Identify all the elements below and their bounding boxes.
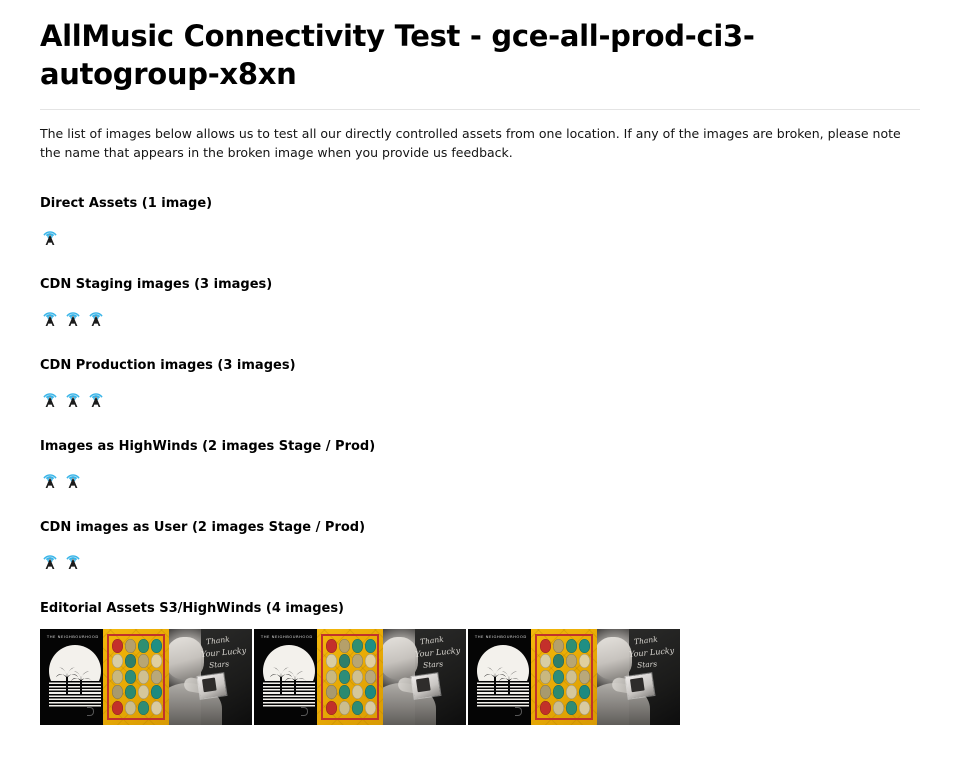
disc (125, 670, 136, 684)
disc (112, 639, 123, 653)
disc (339, 670, 350, 684)
album-mark (515, 707, 522, 716)
broken-image-icon[interactable] (63, 548, 83, 570)
album-art-lucky-stars: Thank Your Lucky Stars (383, 629, 466, 725)
editorial-image[interactable]: THE NEIGHBOURHOOD (468, 629, 680, 725)
disc (566, 670, 577, 684)
held-photo (411, 673, 440, 698)
disc (540, 685, 551, 699)
disc (326, 654, 337, 668)
disc (365, 654, 376, 668)
disc (339, 701, 350, 715)
disc (579, 670, 590, 684)
broken-image-row (40, 224, 920, 248)
disc (365, 701, 376, 715)
disc (579, 701, 590, 715)
broken-image-row (40, 305, 920, 329)
disc (540, 670, 551, 684)
disc (566, 654, 577, 668)
album-label: THE NEIGHBOURHOOD (475, 635, 527, 639)
disc (125, 639, 136, 653)
section-heading: CDN Production images (3 images) (40, 359, 920, 372)
disc (151, 685, 162, 699)
handwriting-line-3: Stars (209, 659, 230, 669)
disc (566, 701, 577, 715)
disc (339, 685, 350, 699)
handwriting-line-3: Stars (637, 659, 658, 669)
disc (125, 701, 136, 715)
palm-trees-icon (268, 663, 310, 695)
album-art-neighbourhood: THE NEIGHBOURHOOD (40, 629, 103, 725)
album-art-neighbourhood: THE NEIGHBOURHOOD (468, 629, 531, 725)
disc (553, 685, 564, 699)
disc (540, 701, 551, 715)
section-images-as-highwinds: Images as HighWinds (2 images Stage / Pr… (40, 440, 920, 491)
disc (326, 670, 337, 684)
broken-image-icon[interactable] (63, 467, 83, 489)
disc (566, 685, 577, 699)
section-heading: CDN Staging images (3 images) (40, 278, 920, 291)
broken-image-icon[interactable] (40, 386, 60, 408)
disc (326, 685, 337, 699)
section-editorial-assets: Editorial Assets S3/HighWinds (4 images) (40, 602, 920, 725)
disc (352, 701, 363, 715)
disc-grid (539, 638, 591, 716)
disc (138, 654, 149, 668)
disc (138, 685, 149, 699)
disc-grid (111, 638, 163, 716)
disc (151, 701, 162, 715)
disc (125, 654, 136, 668)
disc (138, 639, 149, 653)
title-divider (40, 109, 920, 110)
disc (553, 670, 564, 684)
broken-image-icon[interactable] (40, 467, 60, 489)
disc (151, 670, 162, 684)
album-art-discs (531, 629, 597, 725)
album-art-discs (103, 629, 169, 725)
disc (352, 670, 363, 684)
girl-figure (383, 637, 418, 679)
disc (553, 639, 564, 653)
disc (125, 685, 136, 699)
page-title: AllMusic Connectivity Test - gce-all-pro… (40, 18, 920, 93)
disc (365, 639, 376, 653)
broken-image-icon[interactable] (63, 386, 83, 408)
disc (326, 639, 337, 653)
broken-image-row (40, 548, 920, 572)
album-art-discs (317, 629, 383, 725)
disc (112, 685, 123, 699)
broken-image-row (40, 386, 920, 410)
disc (339, 654, 350, 668)
disc (566, 639, 577, 653)
editorial-image[interactable]: THE NEIGHBOURHOOD (40, 629, 252, 725)
section-cdn-staging: CDN Staging images (3 images) (40, 278, 920, 329)
album-label: THE NEIGHBOURHOOD (261, 635, 313, 639)
section-heading: Editorial Assets S3/HighWinds (4 images) (40, 602, 920, 615)
girl-figure (169, 637, 204, 679)
section-direct-assets: Direct Assets (1 image) (40, 197, 920, 248)
section-cdn-production: CDN Production images (3 images) (40, 359, 920, 410)
held-photo (625, 673, 654, 698)
palm-trees-icon (482, 663, 524, 695)
disc (540, 654, 551, 668)
editorial-image[interactable]: THE NEIGHBOURHOOD (254, 629, 466, 725)
disc (540, 639, 551, 653)
disc (151, 654, 162, 668)
broken-image-icon[interactable] (86, 305, 106, 327)
disc (352, 654, 363, 668)
broken-image-icon[interactable] (40, 224, 60, 246)
disc (112, 670, 123, 684)
broken-image-icon[interactable] (63, 305, 83, 327)
disc (365, 685, 376, 699)
disc (352, 685, 363, 699)
section-heading: CDN images as User (2 images Stage / Pro… (40, 521, 920, 534)
intro-paragraph: The list of images below allows us to te… (40, 125, 920, 163)
disc (579, 639, 590, 653)
album-mark (301, 707, 308, 716)
page-container: AllMusic Connectivity Test - gce-all-pro… (0, 0, 960, 725)
album-mark (87, 707, 94, 716)
editorial-image-row: THE NEIGHBOURHOOD (40, 629, 920, 725)
section-heading: Direct Assets (1 image) (40, 197, 920, 210)
disc (352, 639, 363, 653)
broken-image-icon[interactable] (40, 305, 60, 327)
disc-grid (325, 638, 377, 716)
palm-trees-icon (54, 663, 96, 695)
section-cdn-images-as-user: CDN images as User (2 images Stage / Pro… (40, 521, 920, 572)
album-art-lucky-stars: Thank Your Lucky Stars (597, 629, 680, 725)
broken-image-icon[interactable] (86, 386, 106, 408)
disc (138, 670, 149, 684)
held-photo (197, 673, 226, 698)
handwriting-line-3: Stars (423, 659, 444, 669)
disc (553, 701, 564, 715)
broken-image-row (40, 467, 920, 491)
disc (112, 701, 123, 715)
disc (365, 670, 376, 684)
disc (553, 654, 564, 668)
disc (579, 654, 590, 668)
girl-figure (597, 637, 632, 679)
section-heading: Images as HighWinds (2 images Stage / Pr… (40, 440, 920, 453)
disc (579, 685, 590, 699)
album-art-lucky-stars: Thank Your Lucky Stars (169, 629, 252, 725)
disc (326, 701, 337, 715)
disc (339, 639, 350, 653)
disc (151, 639, 162, 653)
disc (138, 701, 149, 715)
album-art-neighbourhood: THE NEIGHBOURHOOD (254, 629, 317, 725)
disc (112, 654, 123, 668)
broken-image-icon[interactable] (40, 548, 60, 570)
album-label: THE NEIGHBOURHOOD (47, 635, 99, 639)
